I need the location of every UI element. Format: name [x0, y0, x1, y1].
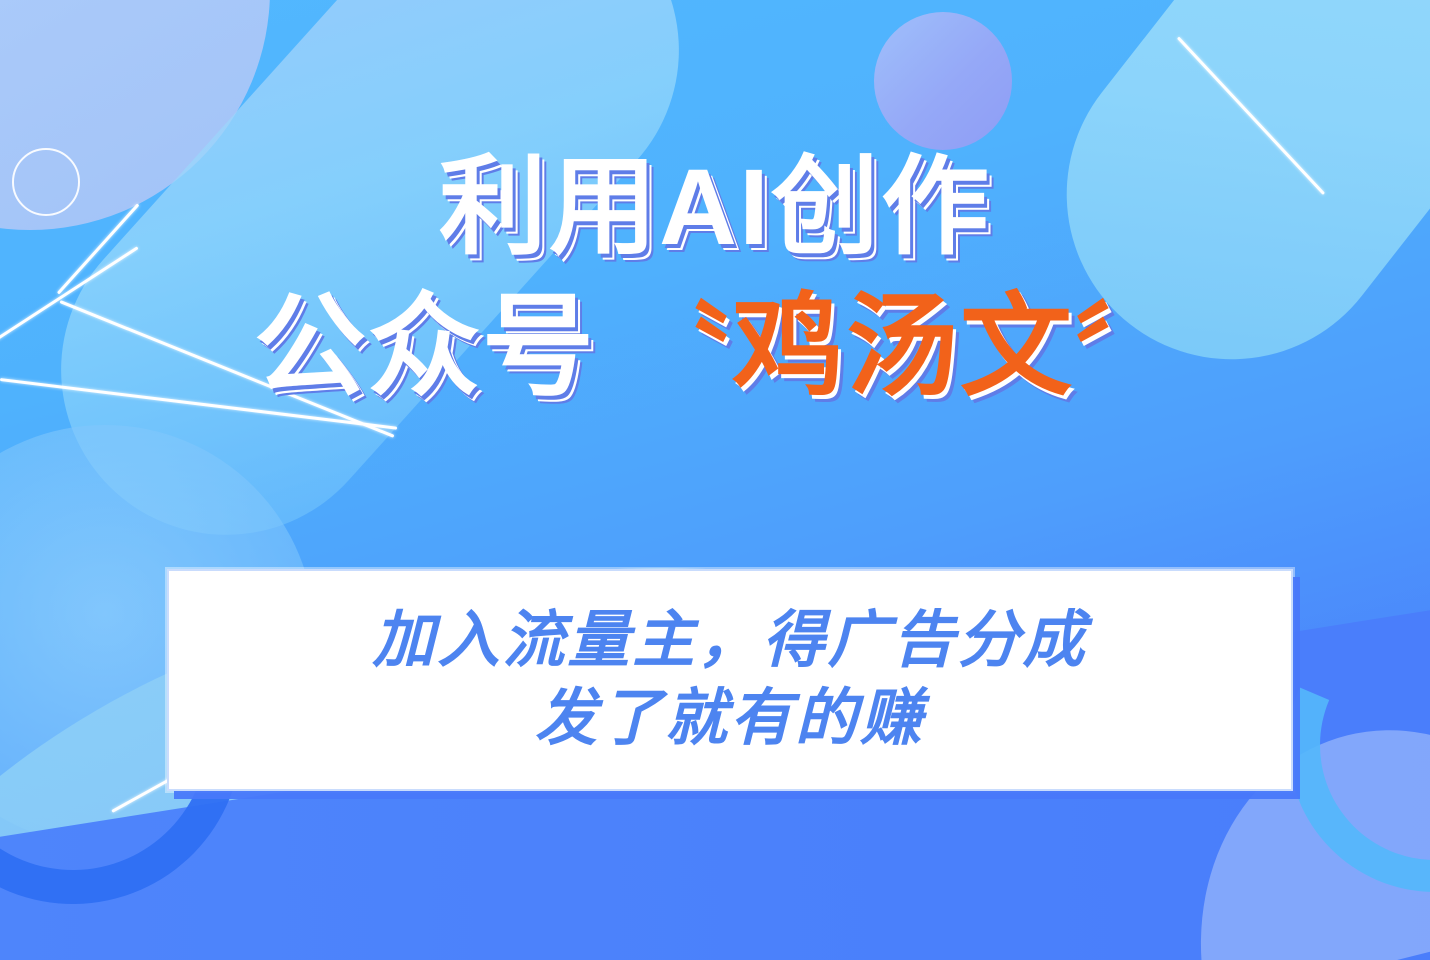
- promo-banner: 利用AI创作 公众号〝鸡汤文〞 加入流量主，得广告分成 发了就有的赚: [0, 0, 1430, 960]
- headline-block: 利用AI创作 公众号〝鸡汤文〞: [0, 150, 1430, 407]
- quote-close-mark: 〞: [1074, 295, 1176, 407]
- headline-line-2: 公众号〝鸡汤文〞: [0, 288, 1430, 407]
- headline-line-1: 利用AI创作: [0, 150, 1430, 264]
- subtitle-box: 加入流量主，得广告分成 发了就有的赚: [167, 569, 1293, 791]
- subtitle-line-2: 发了就有的赚: [535, 680, 925, 758]
- circle-purple-shape: [874, 12, 1012, 150]
- headline-highlight-text: 鸡汤文: [732, 284, 1074, 409]
- headline-prefix-text: 公众号: [254, 284, 596, 409]
- quote-open-mark: 〝: [630, 295, 732, 407]
- subtitle-line-1: 加入流量主，得广告分成: [372, 602, 1087, 680]
